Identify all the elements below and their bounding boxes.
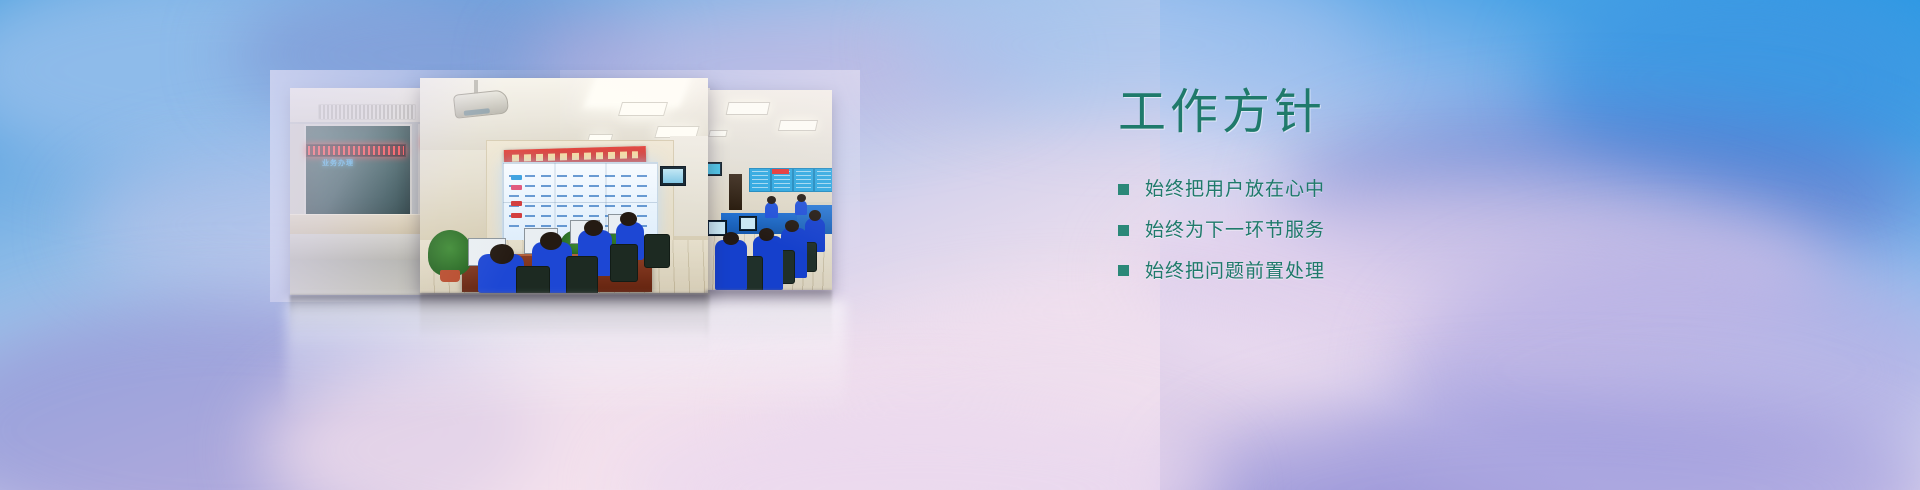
photo-reflection-right (705, 290, 832, 344)
banner-title: 工作方针 (1118, 88, 1738, 136)
list-item-label: 始终把用户放在心中 (1145, 178, 1325, 201)
office-room-photo (705, 90, 832, 290)
list-item: 始终把问题前置处理 (1118, 260, 1738, 283)
square-bullet-icon (1118, 184, 1129, 195)
hero-banner: 个人业务 业务办理 业务办理 (0, 0, 1920, 490)
dispatch-center-photo (420, 78, 708, 293)
photo-reflection-center (420, 293, 708, 359)
policy-list: 始终把用户放在心中 始终为下一环节服务 始终把问题前置处理 (1118, 178, 1738, 282)
list-item-label: 始终把问题前置处理 (1145, 260, 1325, 283)
square-bullet-icon (1118, 265, 1129, 276)
counter-sign-left: 业务办理 (322, 158, 354, 168)
photo-reflection-wash (286, 300, 846, 420)
photo-reflection-left (290, 295, 710, 353)
list-item-label: 始终为下一环节服务 (1145, 219, 1325, 242)
square-bullet-icon (1118, 225, 1129, 236)
banner-text-block: 工作方针 始终把用户放在心中 始终为下一环节服务 始终把问题前置处理 (1118, 88, 1738, 282)
list-item: 始终把用户放在心中 (1118, 178, 1738, 201)
list-item: 始终为下一环节服务 (1118, 219, 1738, 242)
